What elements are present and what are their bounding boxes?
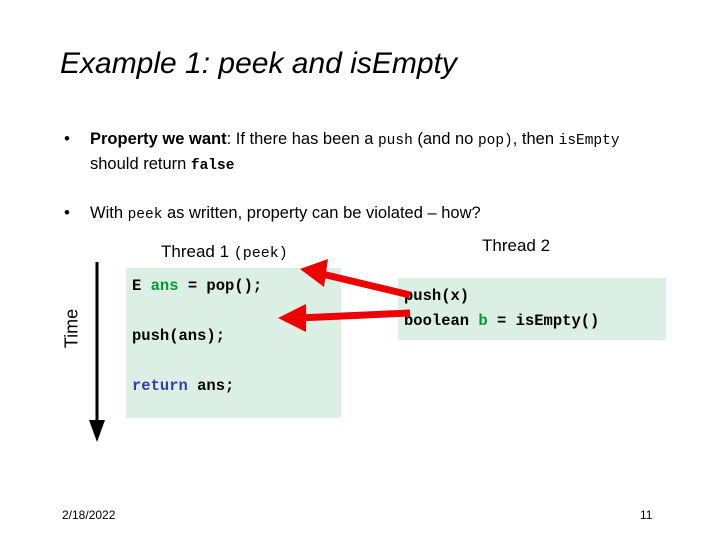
slide-canvas: Example 1: peek and isEmpty • Property w… — [0, 0, 720, 540]
bullet-text-1: Property we want: If there has been a pu… — [90, 128, 662, 178]
list-item: • With peek as written, property can be … — [62, 202, 662, 227]
bullet-1-seg-8: false — [191, 158, 235, 174]
thread-2-label: Thread 2 — [482, 236, 550, 256]
red-arrow-bottom — [278, 304, 410, 332]
bullet-marker-icon: • — [64, 202, 70, 224]
page-title: Example 1: peek and isEmpty — [60, 47, 660, 81]
bullet-2-seg-1: peek — [128, 207, 163, 223]
bullet-2-seg-2: as written, property can be violated – h… — [162, 204, 480, 222]
bullet-1-seg-4: pop) — [478, 133, 513, 149]
time-axis-label: Time — [62, 294, 83, 364]
code-token: = isEmpty() — [488, 312, 600, 330]
bullet-1-seg-2: push — [378, 133, 413, 149]
code-line: push(x) — [404, 284, 666, 309]
code-token: = pop(); — [179, 277, 263, 295]
interleaving-arrows — [260, 255, 420, 335]
bullet-1-seg-7: should return — [90, 155, 191, 173]
bullet-marker-icon: • — [64, 128, 70, 150]
code-token: E — [132, 277, 151, 295]
code-token: b — [478, 312, 487, 330]
list-item: • Property we want: If there has been a … — [62, 128, 662, 178]
code-token: push(ans); — [132, 327, 225, 345]
bullet-1-seg-1: : If there has been a — [227, 130, 378, 148]
code-line-blank — [132, 349, 341, 374]
code-token: ans; — [188, 377, 235, 395]
bullet-1-seg-3: (and no — [413, 130, 478, 148]
bullet-text-2: With peek as written, property can be vi… — [90, 202, 662, 227]
bullet-1-seg-5: , then — [513, 130, 559, 148]
code-line: boolean b = isEmpty() — [404, 309, 666, 334]
code-token: return — [132, 377, 188, 395]
thread-2-code-block: push(x) boolean b = isEmpty() — [398, 278, 666, 340]
code-token: ans — [151, 277, 179, 295]
red-arrow-top — [300, 259, 410, 295]
bullet-1-seg-0: Property we want — [90, 130, 227, 148]
footer-date: 2/18/2022 — [62, 508, 115, 522]
thread-1-label-prefix: Thread 1 — [161, 242, 234, 261]
bullet-list: • Property we want: If there has been a … — [62, 128, 662, 243]
footer-page-number: 11 — [640, 508, 652, 522]
time-axis-arrow-icon — [44, 262, 124, 448]
bullet-1-seg-6: isEmpty — [559, 133, 620, 149]
bullet-2-seg-0: With — [90, 204, 128, 222]
code-line: return ans; — [132, 374, 341, 399]
